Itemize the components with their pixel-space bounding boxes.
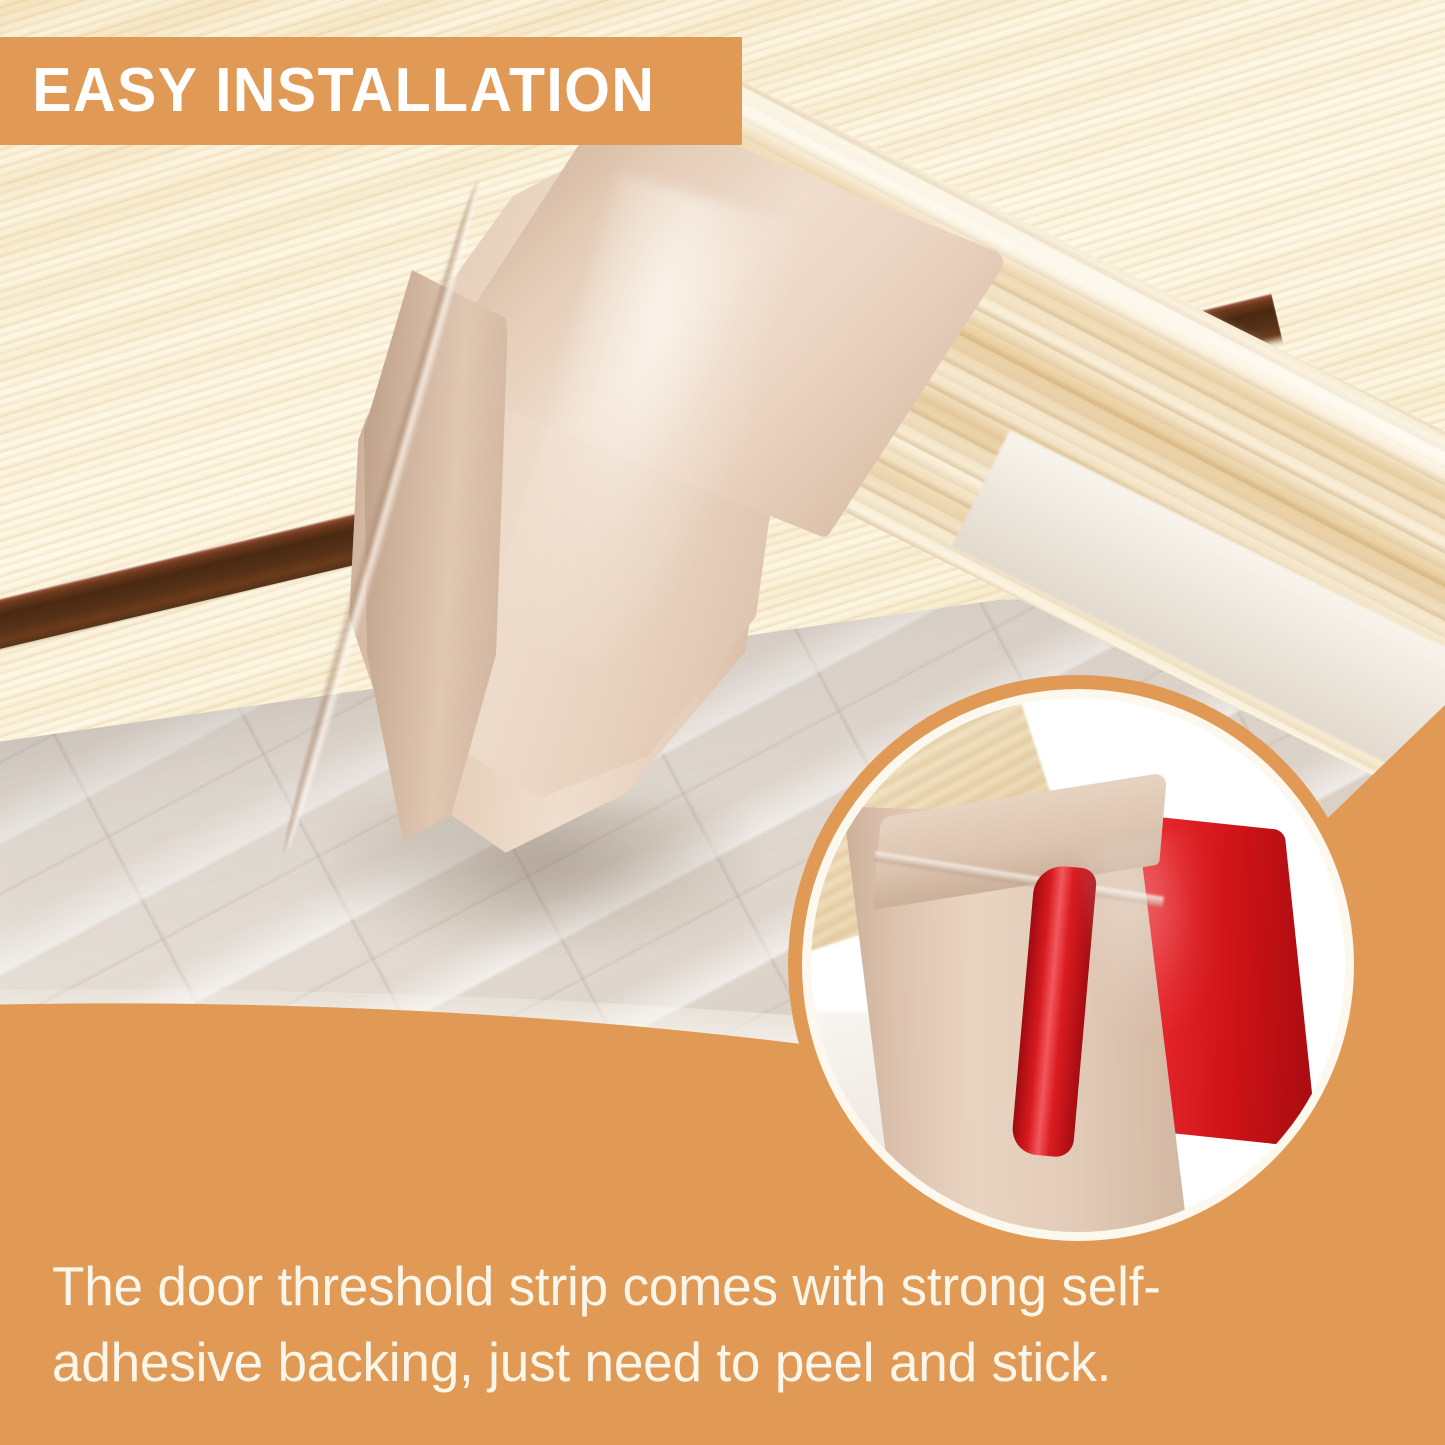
product-infographic: EASY INSTALLATION The door threshold str… <box>0 0 1445 1445</box>
title-banner-label: EASY INSTALLATION <box>0 60 655 122</box>
detail-inset-circle <box>788 675 1368 1255</box>
caption-text: The door threshold strip comes with stro… <box>52 1249 1350 1401</box>
inset-photo <box>811 698 1345 1232</box>
title-banner: EASY INSTALLATION <box>0 37 742 145</box>
